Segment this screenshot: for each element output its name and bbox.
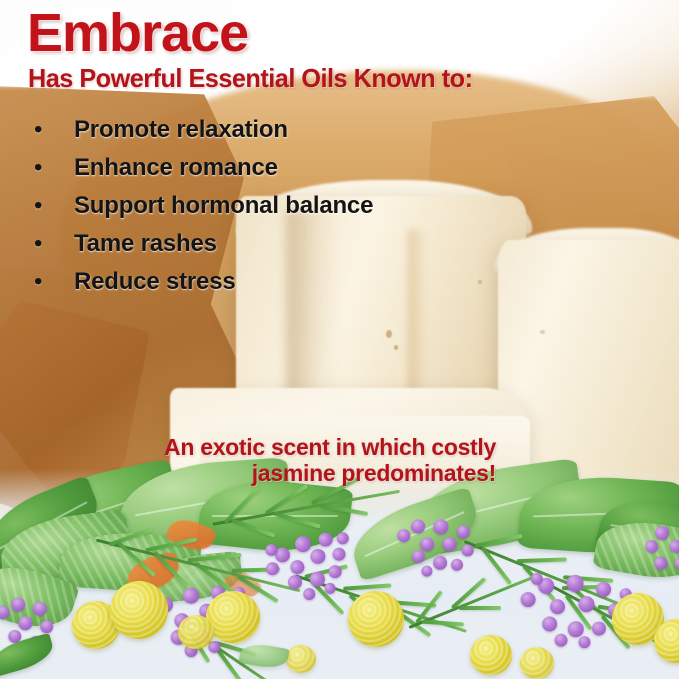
bullet-icon: • [26, 118, 74, 142]
yellow-flower [348, 591, 404, 647]
lavender-bloom [389, 506, 485, 586]
list-item: • Tame rashes [26, 232, 496, 270]
bullet-icon: • [26, 156, 74, 180]
yellow-flower [286, 645, 316, 673]
tagline-line-2: jasmine predominates! [96, 460, 496, 486]
benefit-label: Reduce stress [74, 270, 236, 294]
yellow-flower [520, 647, 554, 679]
page-title: Embrace [27, 6, 248, 60]
list-item: • Reduce stress [26, 270, 496, 308]
soap-speck [386, 330, 392, 338]
list-item: • Promote relaxation [26, 118, 496, 156]
list-item: • Enhance romance [26, 156, 496, 194]
benefit-label: Tame rashes [74, 232, 217, 256]
soap-speck [540, 330, 545, 334]
product-photo [0, 0, 679, 679]
yellow-flower [470, 635, 512, 675]
yellow-flower [178, 615, 214, 649]
bullet-icon: • [26, 194, 74, 218]
list-item: • Support hormonal balance [26, 194, 496, 232]
page-subtitle: Has Powerful Essential Oils Known to: [28, 64, 473, 93]
yellow-flower [206, 591, 260, 643]
tagline: An exotic scent in which costly jasmine … [96, 434, 496, 486]
soap-speck [394, 345, 398, 350]
bullet-icon: • [26, 232, 74, 256]
benefit-label: Support hormonal balance [74, 194, 373, 218]
product-poster: Embrace Has Powerful Essential Oils Know… [0, 0, 679, 679]
benefits-list: • Promote relaxation • Enhance romance •… [26, 118, 496, 308]
tagline-line-1: An exotic scent in which costly [96, 434, 496, 460]
benefit-label: Promote relaxation [74, 118, 288, 142]
yellow-flower [110, 581, 168, 639]
herb-border-band [0, 469, 679, 679]
benefit-label: Enhance romance [74, 156, 278, 180]
bullet-icon: • [26, 270, 74, 294]
